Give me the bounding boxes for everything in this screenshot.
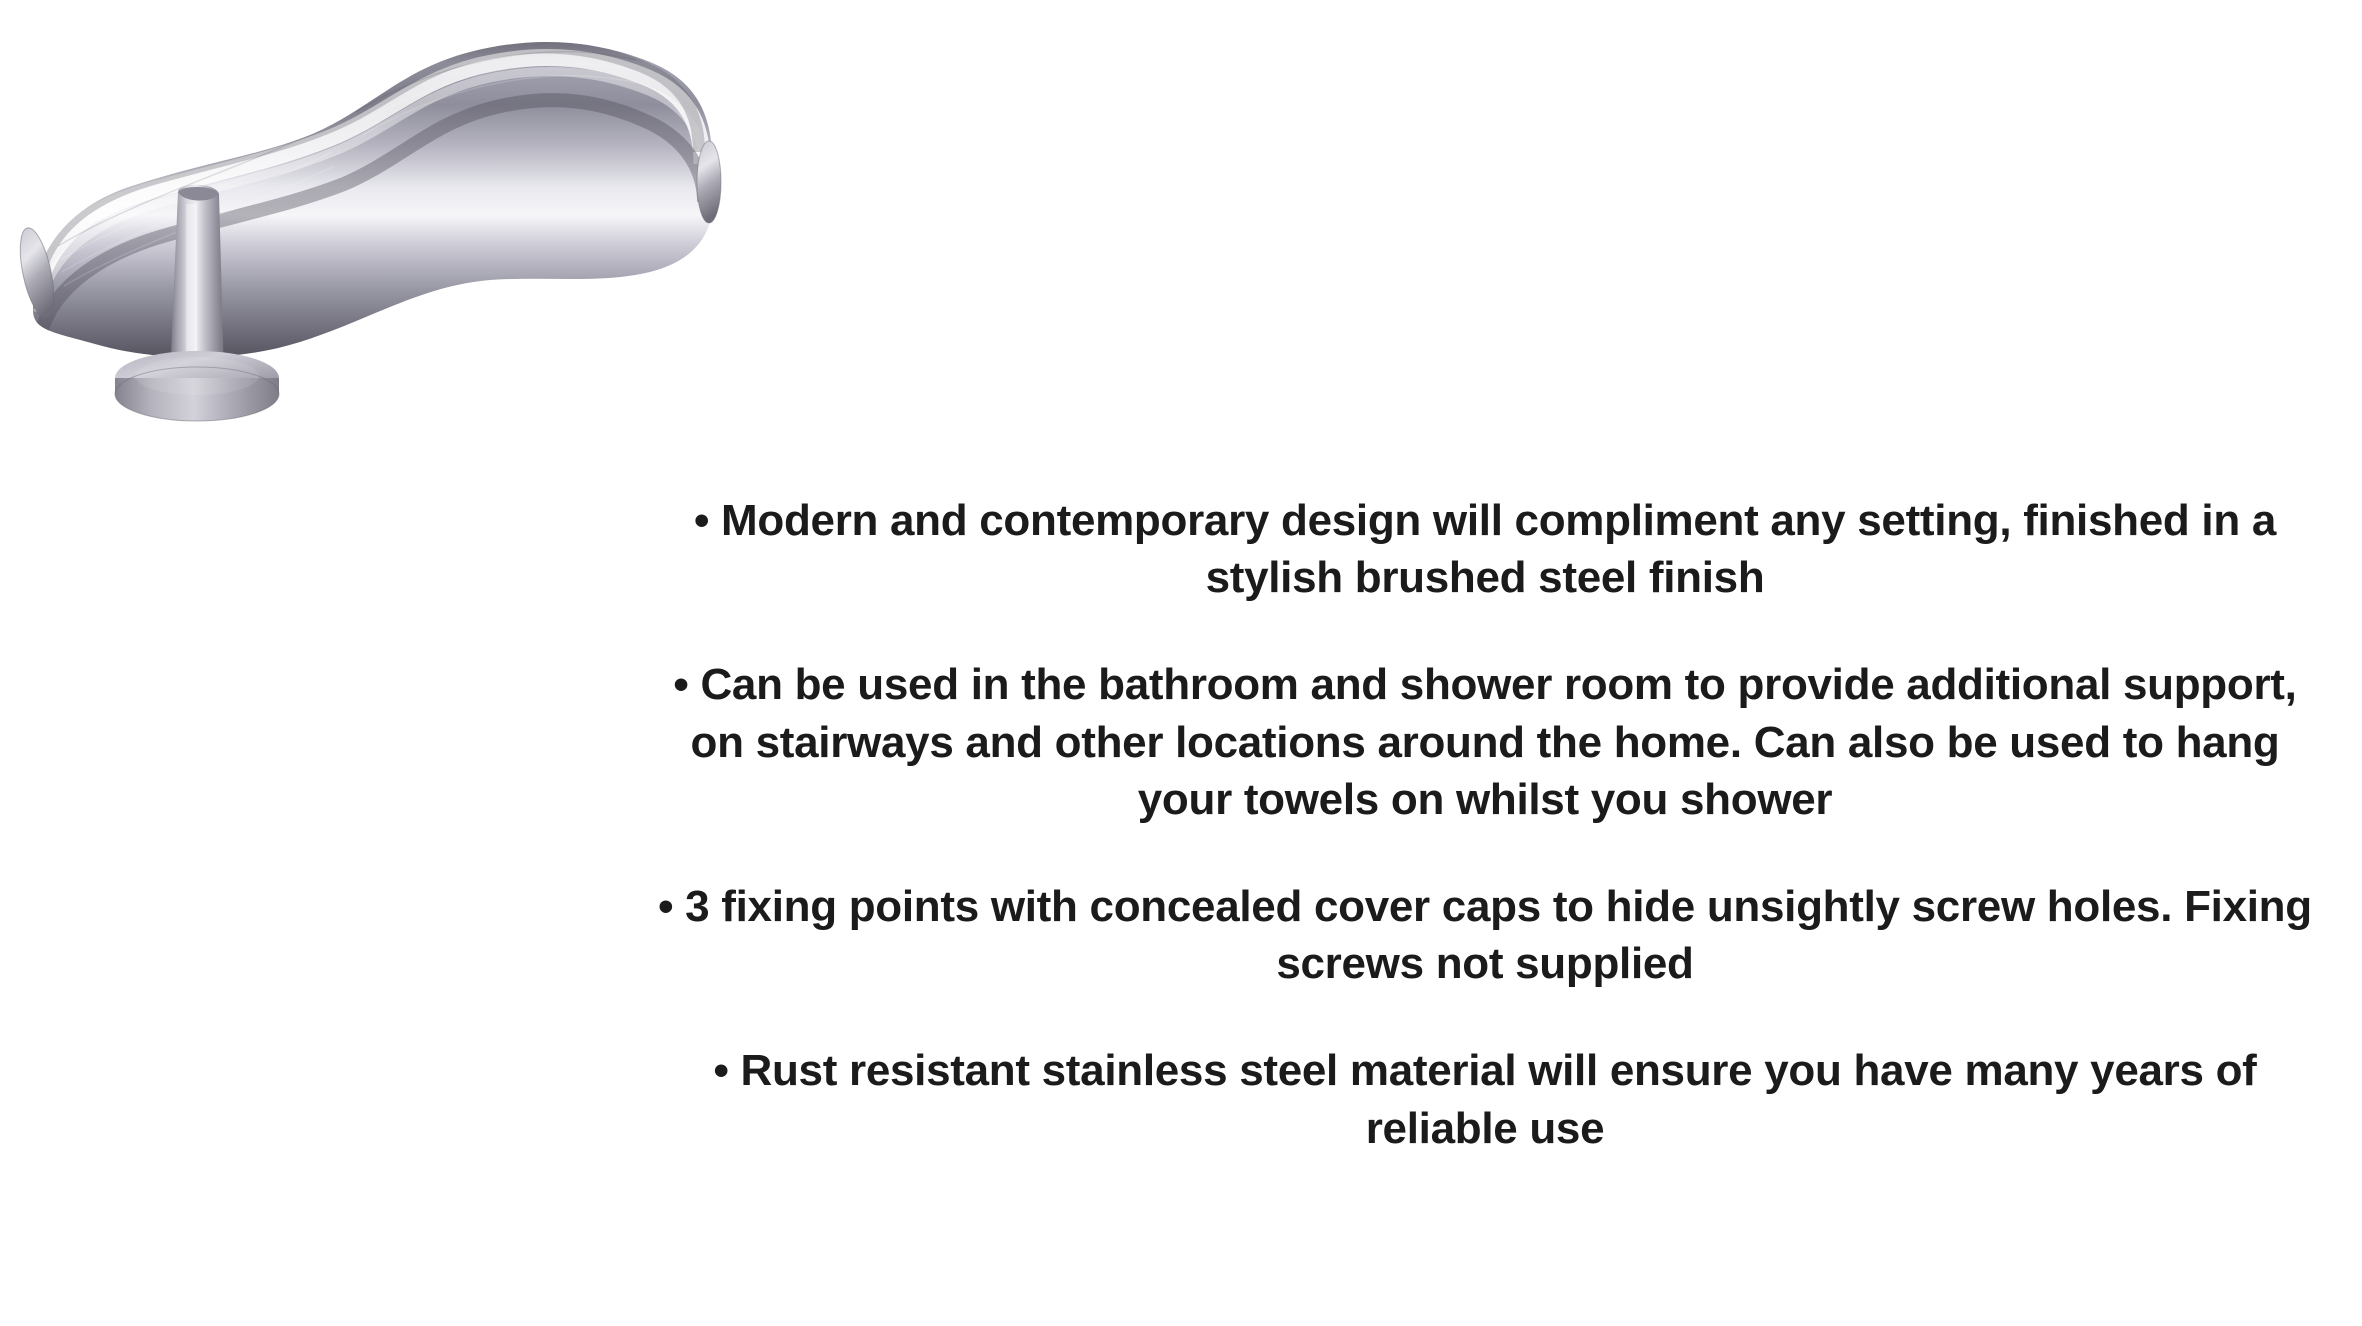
product-listing-page: • Modern and contemporary design will co… [0,0,2362,1326]
product-features-list: • Modern and contemporary design will co… [640,492,2330,1157]
grab-rail-illustration [0,0,1120,500]
rail-tube [14,42,721,357]
mount-flange-front [115,351,279,421]
feature-bullet-material: • Rust resistant stainless steel materia… [640,1042,2330,1156]
rail-end-cap-right [697,141,721,223]
product-image [0,0,1120,500]
feature-bullet-usage: • Can be used in the bathroom and shower… [640,656,2330,828]
mount-post-front [170,185,224,376]
feature-bullet-fixings: • 3 fixing points with concealed cover c… [640,878,2330,992]
feature-bullet-design: • Modern and contemporary design will co… [640,492,2330,606]
